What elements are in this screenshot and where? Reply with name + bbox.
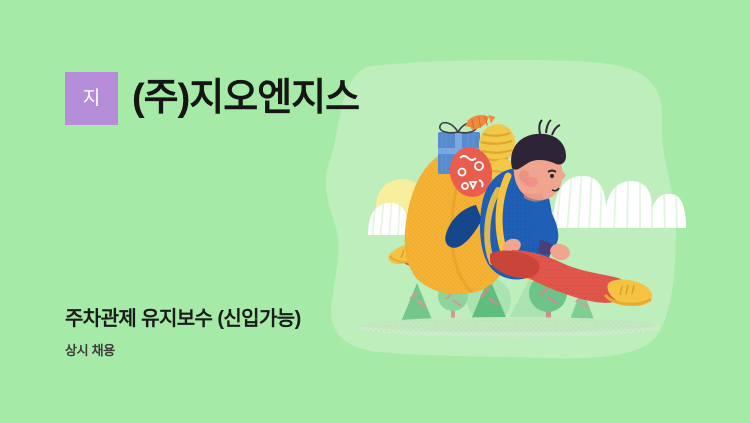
company-logo-initial: 지: [83, 89, 100, 108]
runner-body: [445, 120, 572, 279]
runner-back-leg: [388, 240, 474, 269]
gift-ball-yellow-2: [485, 157, 524, 199]
runner-front-leg: [490, 250, 652, 306]
job-posting-card: 지 (주)지오엔지스 주차관제 유지보수 (신입가능) 상시 채용: [0, 0, 750, 423]
sun: [376, 179, 428, 231]
job-info: 주차관제 유지보수 (신입가능) 상시 채용: [65, 306, 301, 360]
bush-large: [553, 169, 686, 232]
tree-round-2: [529, 274, 567, 322]
company-header: 지 (주)지오엔지스: [65, 72, 359, 125]
tree-row: [401, 274, 595, 322]
candy-orange: [463, 112, 496, 130]
ground-strip: [358, 317, 662, 337]
gift-box-blue: [438, 123, 480, 174]
tree-cone-1: [401, 283, 433, 322]
bush-small: [368, 197, 443, 240]
company-name: (주)지오엔지스: [132, 78, 359, 120]
job-status-label: 상시 채용: [65, 343, 301, 360]
shoe-front: [606, 279, 652, 306]
shoe-back: [388, 244, 424, 264]
sack-strap: [499, 176, 544, 277]
torso: [480, 168, 553, 279]
background-blob: [326, 60, 676, 359]
tree-round-1: [438, 281, 468, 322]
tree-cone-3: [569, 288, 595, 322]
tree-cone-2: [470, 277, 508, 322]
gift-sack: [405, 145, 515, 300]
gift-items: [438, 112, 523, 200]
gift-egg-red: [446, 144, 496, 201]
hair: [511, 134, 566, 170]
job-title: 주차관제 유지보수 (신입가능): [65, 306, 301, 332]
front-arm: [528, 196, 558, 250]
gift-ball-yellow: [475, 121, 519, 168]
runner-head: [511, 120, 566, 202]
company-logo-badge: 지: [65, 72, 118, 125]
